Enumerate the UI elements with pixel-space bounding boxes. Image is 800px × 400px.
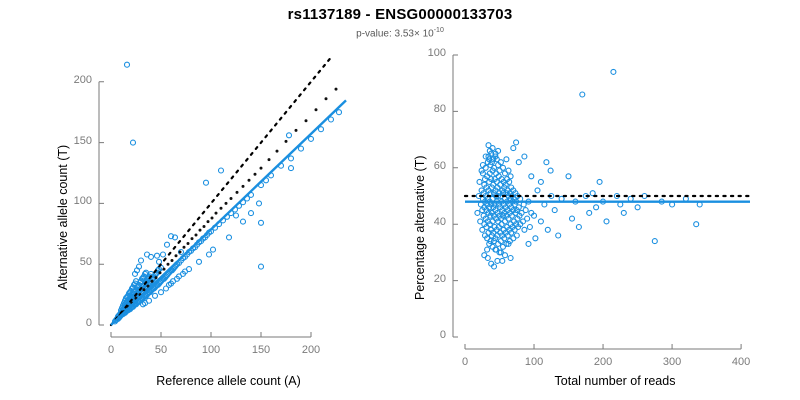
data-point (500, 258, 505, 263)
data-point (508, 174, 513, 179)
dense-marker (268, 158, 271, 161)
dense-marker (305, 119, 308, 122)
data-point (125, 62, 130, 67)
plot-svg (0, 0, 800, 400)
dense-marker (225, 202, 228, 205)
left-x-tick-label-100: 100 (202, 344, 220, 356)
left-y-tick-label-200: 200 (74, 74, 92, 86)
data-point (204, 180, 209, 185)
data-point (522, 154, 527, 159)
data-point (131, 140, 136, 145)
data-point (533, 236, 538, 241)
dense-marker (254, 173, 257, 176)
dense-marker (315, 108, 318, 111)
dense-marker (325, 97, 328, 100)
data-point (477, 179, 482, 184)
dense-marker (242, 185, 245, 188)
data-point (485, 256, 490, 261)
data-point (580, 92, 585, 97)
left-x-tick-label-0: 0 (108, 344, 114, 356)
data-point (501, 165, 506, 170)
data-point (207, 252, 212, 257)
data-point (514, 140, 519, 145)
right-x-tick-label-0: 0 (462, 356, 468, 368)
dense-marker (183, 246, 186, 249)
data-point (523, 208, 528, 213)
data-point (516, 160, 521, 165)
data-point (165, 242, 170, 247)
dense-marker (207, 220, 210, 223)
data-point (211, 247, 216, 252)
dense-marker (175, 254, 178, 257)
data-point (486, 143, 491, 148)
dense-marker (236, 191, 239, 194)
data-point (145, 252, 150, 257)
dense-marker (220, 207, 223, 210)
dense-marker (215, 212, 218, 215)
data-point (526, 241, 531, 246)
data-point (587, 210, 592, 215)
dense-marker (159, 271, 162, 274)
dense-marker (167, 263, 170, 266)
right-y-tick-label-100: 100 (428, 47, 446, 59)
left-x-axis (111, 332, 311, 337)
data-point (503, 253, 508, 258)
dense-marker (248, 179, 251, 182)
right-y-tick-label-20: 20 (434, 273, 446, 285)
dense-marker (199, 229, 202, 232)
dense-marker (276, 150, 279, 153)
data-point (259, 220, 264, 225)
dense-marker (335, 88, 338, 91)
left-x-tick-label-150: 150 (252, 344, 270, 356)
left-y-tick-label-50: 50 (80, 256, 92, 268)
data-point (299, 146, 304, 151)
data-point (544, 160, 549, 165)
data-point (289, 166, 294, 171)
dense-marker (163, 268, 166, 271)
right-x-tick-label-400: 400 (732, 356, 750, 368)
data-point (694, 222, 699, 227)
right-y-tick-label-80: 80 (434, 103, 446, 115)
data-point (287, 133, 292, 138)
data-point (485, 247, 490, 252)
data-point (514, 233, 519, 238)
left-plot-panel (99, 55, 346, 337)
data-point (594, 205, 599, 210)
figure-canvas: rs1137189 - ENSG00000133703 p-value: 3.5… (0, 0, 800, 400)
regression-fit-line (111, 100, 346, 325)
data-point (604, 219, 609, 224)
left-x-tick-label-200: 200 (302, 344, 320, 356)
data-point (197, 259, 202, 264)
data-point (511, 146, 516, 151)
dense-marker (211, 217, 214, 220)
data-point (652, 239, 657, 244)
identity-reference-line (111, 55, 333, 325)
data-point (527, 225, 532, 230)
data-point (241, 219, 246, 224)
data-point (556, 233, 561, 238)
dense-marker (203, 225, 206, 228)
data-point (234, 213, 239, 218)
data-point (538, 219, 543, 224)
data-point (529, 174, 534, 179)
right-y-tick-label-0: 0 (440, 329, 446, 341)
right-y-tick-label-60: 60 (434, 160, 446, 172)
data-point (525, 216, 530, 221)
dense-marker (151, 280, 154, 283)
data-point (153, 293, 158, 298)
right-x-tick-label-100: 100 (525, 356, 543, 368)
dense-marker (155, 276, 158, 279)
right-x-tick-label-200: 200 (594, 356, 612, 368)
data-point (566, 174, 571, 179)
right-x-tick-label-300: 300 (663, 356, 681, 368)
data-point (570, 216, 575, 221)
data-point (219, 168, 224, 173)
right-x-axis (465, 344, 741, 349)
data-point (249, 211, 254, 216)
dense-marker (179, 251, 182, 254)
dense-marker (295, 129, 298, 132)
data-point (635, 205, 640, 210)
data-point (508, 256, 513, 261)
left-y-axis (99, 82, 104, 325)
data-point (522, 227, 527, 232)
dense-marker (171, 259, 174, 262)
left-y-tick-label-100: 100 (74, 195, 92, 207)
data-point (552, 208, 557, 213)
data-point (548, 168, 553, 173)
data-point (475, 210, 480, 215)
data-point (535, 188, 540, 193)
data-point (597, 179, 602, 184)
data-point (576, 225, 581, 230)
data-point (495, 258, 500, 263)
dense-marker (187, 242, 190, 245)
data-point (139, 258, 144, 263)
dense-marker (143, 288, 146, 291)
data-point (259, 264, 264, 269)
left-dense-markers (116, 88, 338, 321)
right-scatter-points (475, 69, 702, 269)
data-point (504, 157, 509, 162)
left-y-tick-label-150: 150 (74, 135, 92, 147)
data-point (545, 227, 550, 232)
dense-marker (230, 197, 233, 200)
dense-marker (195, 234, 198, 237)
dense-marker (285, 140, 288, 143)
data-point (289, 156, 294, 161)
dense-marker (260, 167, 263, 170)
left-x-tick-label-50: 50 (155, 344, 167, 356)
data-point (257, 201, 262, 206)
left-y-tick-label-0: 0 (86, 317, 92, 329)
right-y-tick-label-40: 40 (434, 216, 446, 228)
left-scatter-points (113, 62, 342, 324)
data-point (159, 290, 164, 295)
data-point (337, 110, 342, 115)
data-point (621, 210, 626, 215)
data-point (506, 168, 511, 173)
data-point (227, 235, 232, 240)
data-point (155, 253, 160, 258)
right-plot-panel (453, 55, 750, 349)
dense-marker (191, 237, 194, 240)
data-point (611, 69, 616, 74)
right-y-axis (453, 55, 458, 337)
data-point (538, 179, 543, 184)
data-point (161, 252, 166, 257)
